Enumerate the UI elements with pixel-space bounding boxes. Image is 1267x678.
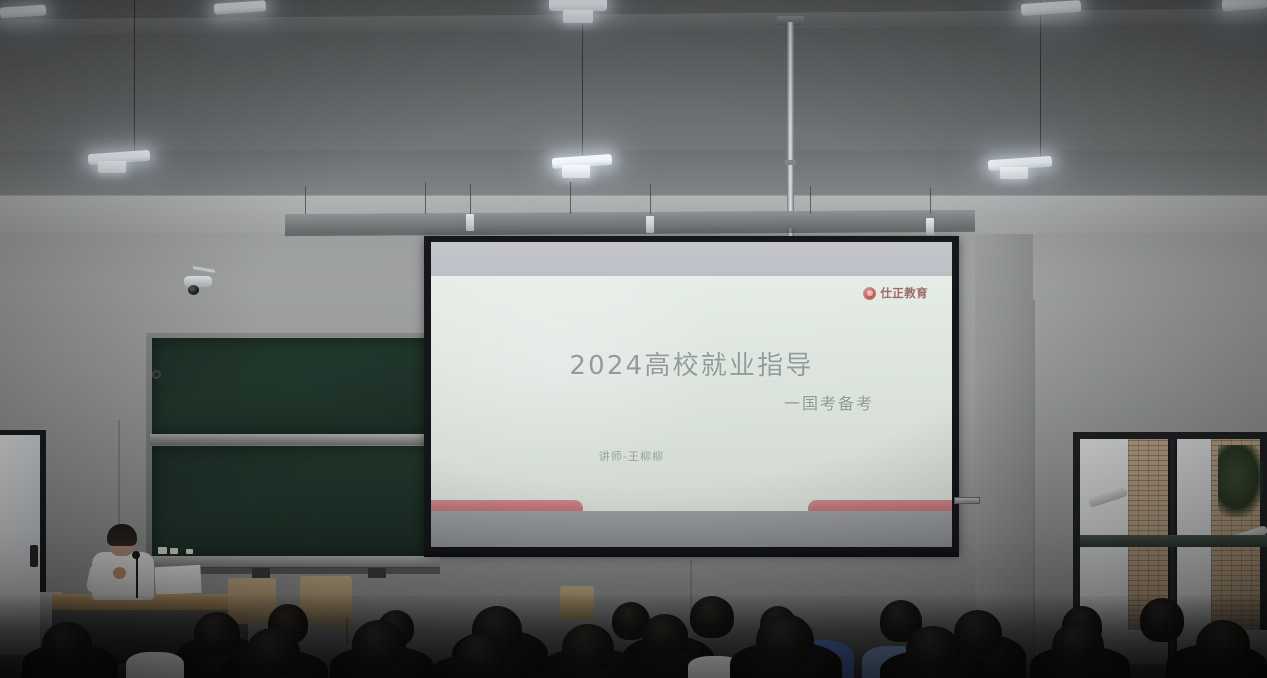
microphone-icon — [132, 551, 140, 559]
company-logo-mark-icon — [863, 287, 876, 300]
rail-hanger-1 — [305, 186, 306, 214]
rail-clip-1 — [466, 214, 474, 231]
chalk-piece-2 — [170, 548, 178, 554]
screen-wall-bracket — [954, 497, 980, 504]
ceiling-light-8-fins — [1000, 167, 1028, 179]
screen-bottom-band — [431, 511, 952, 547]
rail-hanger-7 — [930, 188, 931, 214]
student-head — [642, 614, 688, 658]
rail-hanger-2 — [425, 182, 426, 214]
light-wire-3 — [1040, 0, 1041, 162]
rail-hanger-6 — [810, 186, 811, 214]
wall-seam-right2 — [1033, 300, 1035, 664]
foliage — [1218, 445, 1264, 517]
projection-screen[interactable]: 仕正教育 2024高校就业指导 一国考备考 讲师-王柳柳 — [424, 236, 959, 554]
right-wall-pillar — [975, 234, 1033, 664]
security-camera-body — [184, 276, 212, 287]
student-head — [194, 612, 240, 656]
student-head — [954, 610, 1002, 656]
blackboard-leg-1 — [252, 568, 270, 578]
blackboard-middle-rail — [150, 434, 436, 445]
blackboard-panel-upper — [152, 338, 434, 436]
student-head — [1052, 622, 1104, 670]
chair-2-leg — [346, 618, 348, 644]
slide-accent-bar-right — [808, 500, 952, 511]
light-wire-2 — [582, 0, 583, 160]
student-head — [1140, 598, 1184, 642]
projector-pole-joint — [785, 160, 796, 165]
chair-2[interactable] — [300, 576, 352, 626]
slide-subtitle: 一国考备考 — [784, 390, 874, 414]
student-head — [756, 614, 814, 668]
light-wire-1 — [134, 0, 135, 156]
student-head — [906, 626, 960, 674]
rail-clip-2 — [646, 216, 654, 233]
student-head — [42, 622, 92, 668]
screen-surface: 仕正教育 2024高校就业指导 一国考备考 讲师-王柳柳 — [431, 242, 952, 547]
lecturer-hair — [107, 524, 137, 546]
ceiling-light-6-fins — [98, 161, 126, 173]
student-head — [246, 628, 300, 676]
screen-top-band — [431, 242, 952, 276]
screen-bottom-lip — [424, 548, 959, 557]
ceiling-light-7-fins — [562, 165, 590, 178]
rail-clip-3 — [926, 218, 934, 235]
slide-title: 2024高校就业指导 — [431, 345, 952, 382]
blackboard-leg-2 — [368, 568, 386, 578]
rail-hanger-5 — [650, 184, 651, 214]
ceiling-light-3-fins — [563, 10, 593, 23]
chalk-piece-3 — [186, 549, 193, 554]
brand-logo: 仕正教育 — [863, 285, 928, 301]
student-head — [456, 634, 506, 678]
student-head — [690, 596, 734, 638]
desk-papers — [154, 565, 201, 595]
wall-seam-mid — [690, 560, 692, 612]
lecturer-hand — [113, 567, 126, 579]
blackboard-panel-lower — [152, 446, 434, 558]
student-shirt-white — [126, 652, 184, 678]
student-head — [562, 624, 614, 672]
slide-accent-bar-left — [431, 500, 583, 511]
security-camera-lens-icon — [188, 285, 199, 295]
microphone-stand — [136, 556, 138, 598]
classroom-photo: 仕正教育 2024高校就业指导 一国考备考 讲师-王柳柳 — [0, 0, 1267, 678]
presentation-slide: 仕正教育 2024高校就业指导 一国考备考 讲师-王柳柳 — [431, 276, 952, 511]
student-head — [352, 620, 406, 670]
chair-3[interactable] — [560, 586, 594, 620]
side-door-handle[interactable] — [30, 545, 38, 567]
chalk-piece-1 — [158, 547, 167, 554]
rail-hanger-4 — [570, 182, 571, 214]
blackboard-hook-icon — [152, 370, 161, 379]
student-head — [1196, 620, 1250, 670]
slide-presenter: 讲师-王柳柳 — [431, 448, 952, 464]
company-logo-text: 仕正教育 — [880, 285, 928, 301]
glass-door-crossbar — [1080, 535, 1267, 547]
rail-hanger-3 — [470, 184, 471, 214]
